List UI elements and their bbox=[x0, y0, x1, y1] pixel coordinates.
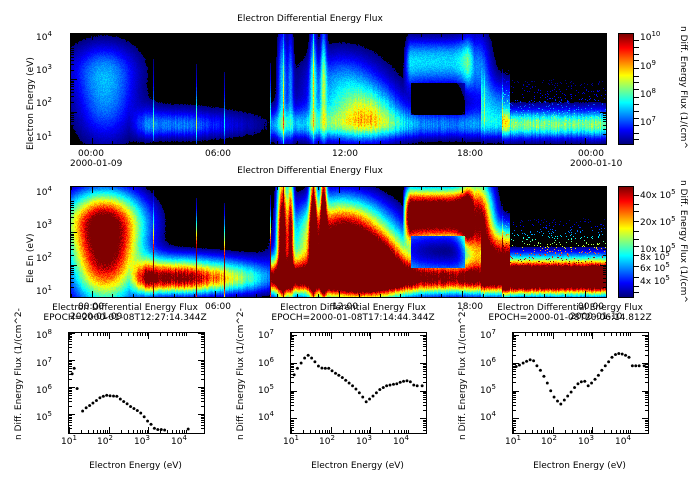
spectrum-1-ytick-5: 105 bbox=[36, 413, 52, 423]
axis-tick bbox=[603, 54, 606, 55]
axis-tick bbox=[71, 34, 72, 37]
axis-tick bbox=[153, 187, 154, 190]
axis-tick bbox=[71, 234, 74, 235]
spectrum-1-ytick-7: 107 bbox=[36, 359, 52, 369]
colorbar-tick bbox=[633, 231, 639, 232]
axis-tick bbox=[544, 187, 545, 190]
axis-tick bbox=[297, 187, 298, 190]
colorbar-tick bbox=[633, 89, 639, 90]
axis-tick bbox=[603, 249, 606, 250]
axis-tick bbox=[585, 187, 586, 193]
colorbar-tick bbox=[633, 255, 639, 256]
axis-tick bbox=[503, 294, 504, 297]
spectrum-1-title: Electron Differential Energy Flux bbox=[20, 303, 230, 313]
axis-tick bbox=[603, 274, 606, 275]
axis-tick bbox=[603, 242, 606, 243]
axis-tick bbox=[380, 294, 381, 297]
spectrum-3-ylabel: n Diff. Energy Flux (1/(cm^2- bbox=[458, 308, 468, 440]
spectrum-2-xtick-2: 102 bbox=[319, 437, 335, 447]
axis-tick bbox=[71, 187, 72, 190]
axis-tick bbox=[71, 282, 74, 283]
spectrum-1-xtick-2: 102 bbox=[97, 437, 113, 447]
axis-tick bbox=[603, 201, 606, 202]
spectrum-1-xtick-3: 103 bbox=[134, 437, 150, 447]
axis-tick bbox=[603, 287, 606, 288]
bottom-cbtick-6: 6x 105 bbox=[640, 264, 670, 274]
spectrum-2-xtick-4: 104 bbox=[393, 437, 409, 447]
axis-tick bbox=[524, 187, 525, 190]
axis-tick bbox=[318, 294, 319, 297]
axis-tick bbox=[277, 34, 278, 37]
axis-tick bbox=[236, 34, 237, 37]
colorbar-tick bbox=[633, 221, 639, 222]
axis-tick bbox=[400, 187, 401, 190]
spectrum-3-epoch: EPOCH=2000-01-08T20:06:14.812Z bbox=[460, 313, 680, 323]
axis-tick bbox=[277, 294, 278, 297]
axis-tick bbox=[71, 242, 74, 243]
spectrum-3-xtick-4: 104 bbox=[615, 437, 631, 447]
axis-tick bbox=[483, 294, 484, 297]
axis-tick bbox=[133, 141, 134, 144]
top-xtick-1: 06:00 bbox=[205, 149, 231, 159]
axis-tick bbox=[215, 34, 216, 40]
spectrum-2-title: Electron Differential Energy Flux bbox=[248, 303, 458, 313]
axis-tick bbox=[256, 141, 257, 144]
spectrum-2-xlabel: Electron Energy (eV) bbox=[290, 461, 425, 471]
axis-tick bbox=[359, 34, 360, 37]
top-ytick-4: 104 bbox=[36, 33, 52, 43]
spectrum-3-title: Electron Differential Energy Flux bbox=[460, 303, 680, 313]
colorbar-tick bbox=[633, 292, 639, 293]
top-ytick-2: 102 bbox=[36, 99, 52, 109]
colorbar-tick bbox=[633, 266, 639, 267]
axis-tick bbox=[400, 141, 401, 144]
spectrum-3-xtick-1: 101 bbox=[505, 437, 521, 447]
axis-tick bbox=[359, 141, 360, 144]
axis-tick bbox=[71, 129, 74, 130]
bottom-cbtick-4: 4x 105 bbox=[640, 277, 670, 287]
axis-tick bbox=[71, 245, 74, 246]
axis-tick bbox=[603, 266, 606, 267]
colorbar-tick bbox=[633, 239, 639, 240]
axis-tick bbox=[71, 57, 74, 58]
axis-tick bbox=[603, 203, 606, 204]
axis-tick bbox=[92, 138, 93, 144]
axis-tick bbox=[71, 81, 74, 82]
axis-tick bbox=[441, 187, 442, 190]
axis-tick bbox=[441, 34, 442, 37]
axis-tick bbox=[112, 294, 113, 297]
axis-tick bbox=[71, 125, 74, 126]
axis-tick bbox=[256, 34, 257, 37]
axis-tick bbox=[603, 81, 606, 82]
axis-tick bbox=[421, 187, 422, 190]
axis-tick bbox=[174, 141, 175, 144]
spectrum-3-ytick-4: 104 bbox=[480, 413, 496, 423]
spectrum-1-xlabel: Electron Energy (eV) bbox=[68, 461, 203, 471]
axis-tick bbox=[603, 270, 606, 271]
axis-tick bbox=[380, 141, 381, 144]
axis-tick bbox=[483, 34, 484, 37]
axis-tick bbox=[318, 187, 319, 190]
axis-tick bbox=[606, 187, 607, 190]
axis-tick bbox=[603, 210, 606, 211]
axis-tick bbox=[603, 272, 606, 273]
bottom-colorbar bbox=[618, 186, 634, 298]
axis-tick bbox=[524, 141, 525, 144]
axis-tick bbox=[524, 34, 525, 37]
axis-tick bbox=[600, 79, 606, 80]
axis-tick bbox=[565, 141, 566, 144]
spectrum-3-plot-area bbox=[512, 332, 649, 434]
axis-tick bbox=[215, 138, 216, 144]
axis-tick bbox=[603, 217, 606, 218]
top-xtick-0: 00:00 bbox=[78, 149, 104, 159]
spectrum-1-xtick-1: 101 bbox=[61, 437, 77, 447]
colorbar-tick bbox=[633, 133, 639, 134]
bottom-ytick-4: 104 bbox=[36, 188, 52, 198]
axis-tick bbox=[236, 294, 237, 297]
spectrum-2-ylabel: n Diff. Energy Flux (1/(cm^2- bbox=[236, 308, 246, 440]
axis-tick bbox=[71, 117, 74, 118]
axis-tick bbox=[71, 82, 74, 83]
axis-tick bbox=[603, 121, 606, 122]
axis-tick bbox=[71, 239, 74, 240]
axis-tick bbox=[71, 92, 74, 93]
axis-tick bbox=[503, 187, 504, 190]
axis-tick bbox=[380, 187, 381, 190]
axis-tick bbox=[565, 34, 566, 37]
top-cbtick-8: 108 bbox=[640, 90, 656, 100]
bottom-colorbar-label: n Diff. Energy Flux (1/(cm^ bbox=[678, 180, 688, 303]
axis-tick bbox=[71, 70, 74, 71]
axis-tick bbox=[600, 144, 606, 145]
spectrum-2-xtick-3: 103 bbox=[356, 437, 372, 447]
colorbar-tick bbox=[633, 40, 639, 41]
bottom-cbtick-40: 40x 105 bbox=[640, 191, 676, 201]
axis-tick bbox=[603, 57, 606, 58]
axis-tick bbox=[603, 102, 606, 103]
axis-tick bbox=[603, 134, 606, 135]
axis-tick bbox=[71, 265, 77, 266]
axis-tick bbox=[153, 294, 154, 297]
colorbar-tick bbox=[633, 97, 639, 98]
bottom-ytick-2: 102 bbox=[36, 254, 52, 264]
axis-tick bbox=[421, 294, 422, 297]
axis-tick bbox=[112, 141, 113, 144]
spectrum-1-ytick-6: 106 bbox=[36, 386, 52, 396]
axis-tick bbox=[603, 223, 606, 224]
axis-tick bbox=[441, 294, 442, 297]
top-panel-title: Electron Differential Energy Flux bbox=[0, 14, 620, 24]
colorbar-tick bbox=[633, 204, 639, 205]
axis-tick bbox=[194, 187, 195, 190]
spectrum-3-xtick-3: 103 bbox=[578, 437, 594, 447]
axis-tick bbox=[71, 79, 77, 80]
axis-tick bbox=[503, 141, 504, 144]
axis-tick bbox=[603, 255, 606, 256]
colorbar-tick bbox=[633, 111, 639, 112]
axis-tick bbox=[71, 278, 74, 279]
axis-tick bbox=[71, 274, 74, 275]
axis-tick bbox=[153, 141, 154, 144]
colorbar-tick bbox=[633, 195, 639, 196]
axis-tick bbox=[603, 84, 606, 85]
axis-tick bbox=[71, 52, 74, 53]
axis-tick bbox=[603, 92, 606, 93]
axis-tick bbox=[603, 282, 606, 283]
axis-tick bbox=[71, 217, 74, 218]
axis-tick bbox=[71, 210, 74, 211]
axis-tick bbox=[71, 144, 77, 145]
top-ytick-1: 101 bbox=[36, 133, 52, 143]
axis-tick bbox=[92, 34, 93, 40]
axis-tick bbox=[71, 223, 74, 224]
axis-tick bbox=[606, 34, 607, 37]
top-xtick-3: 18:00 bbox=[457, 149, 483, 159]
spectrum-2-ytick-7: 107 bbox=[258, 331, 274, 341]
axis-tick bbox=[462, 34, 463, 40]
spectrum-1-xtick-4: 104 bbox=[171, 437, 187, 447]
axis-tick bbox=[600, 232, 606, 233]
axis-tick bbox=[318, 34, 319, 37]
axis-tick bbox=[71, 203, 74, 204]
axis-tick bbox=[339, 291, 340, 297]
axis-tick bbox=[92, 187, 93, 193]
axis-tick bbox=[603, 48, 606, 49]
axis-tick bbox=[603, 235, 606, 236]
axis-tick bbox=[71, 249, 74, 250]
axis-tick bbox=[133, 187, 134, 190]
colorbar-tick bbox=[633, 118, 639, 119]
axis-tick bbox=[603, 70, 606, 71]
axis-tick bbox=[544, 34, 545, 37]
axis-tick bbox=[483, 141, 484, 144]
colorbar-tick bbox=[633, 277, 639, 278]
axis-tick bbox=[603, 207, 606, 208]
spectrum-1-epoch: EPOCH=2000-01-08T12:27:14.344Z bbox=[20, 313, 230, 323]
axis-tick bbox=[71, 205, 74, 206]
colorbar-tick bbox=[633, 60, 639, 61]
colorbar-tick bbox=[633, 47, 639, 48]
axis-tick bbox=[71, 141, 72, 144]
spectrum-2-epoch: EPOCH=2000-01-08T17:14:44.344Z bbox=[248, 313, 458, 323]
axis-tick bbox=[462, 291, 463, 297]
axis-tick bbox=[71, 272, 74, 273]
colorbar-tick bbox=[633, 139, 639, 140]
axis-tick bbox=[71, 266, 74, 267]
axis-tick bbox=[359, 294, 360, 297]
axis-tick bbox=[400, 34, 401, 37]
axis-tick bbox=[483, 187, 484, 190]
axis-tick bbox=[524, 294, 525, 297]
axis-tick bbox=[71, 96, 74, 97]
axis-tick bbox=[112, 187, 113, 190]
axis-tick bbox=[174, 187, 175, 190]
axis-tick bbox=[174, 294, 175, 297]
axis-tick bbox=[277, 187, 278, 190]
axis-tick bbox=[71, 50, 74, 51]
axis-tick bbox=[603, 125, 606, 126]
axis-tick bbox=[71, 237, 74, 238]
axis-tick bbox=[71, 134, 74, 135]
axis-tick bbox=[421, 141, 422, 144]
axis-tick bbox=[71, 207, 74, 208]
spectrum-3-xlabel: Electron Energy (eV) bbox=[512, 461, 647, 471]
axis-tick bbox=[462, 187, 463, 193]
axis-tick bbox=[565, 294, 566, 297]
axis-tick bbox=[603, 96, 606, 97]
axis-tick bbox=[133, 34, 134, 37]
colorbar-tick bbox=[633, 76, 639, 77]
bottom-ytick-3: 103 bbox=[36, 221, 52, 231]
top-xtick-2: 12:00 bbox=[332, 149, 358, 159]
spectrum-1-ylabel: n Diff. Energy Flux (1/(cm^2- bbox=[14, 308, 24, 440]
axis-tick bbox=[236, 141, 237, 144]
axis-tick bbox=[71, 232, 77, 233]
axis-tick bbox=[133, 294, 134, 297]
axis-tick bbox=[603, 89, 606, 90]
spectrum-3-ytick-7: 107 bbox=[480, 331, 496, 341]
axis-tick bbox=[400, 294, 401, 297]
top-cbtick-7: 107 bbox=[640, 118, 656, 128]
axis-tick bbox=[603, 86, 606, 87]
colorbar-tick bbox=[633, 82, 639, 83]
spectrum-3-xtick-2: 102 bbox=[541, 437, 557, 447]
axis-tick bbox=[297, 34, 298, 37]
colorbar-tick bbox=[633, 211, 639, 212]
axis-tick bbox=[585, 34, 586, 40]
axis-tick bbox=[603, 129, 606, 130]
axis-tick bbox=[421, 34, 422, 37]
axis-tick bbox=[71, 297, 77, 298]
axis-tick bbox=[174, 34, 175, 37]
axis-tick bbox=[71, 89, 74, 90]
axis-tick bbox=[71, 121, 74, 122]
spectrum-2-ytick-4: 104 bbox=[258, 413, 274, 423]
top-cbtick-10: 1010 bbox=[640, 33, 660, 43]
axis-tick bbox=[603, 239, 606, 240]
axis-tick bbox=[256, 187, 257, 190]
axis-tick bbox=[503, 34, 504, 37]
axis-tick bbox=[71, 268, 74, 269]
spectrum-1-ytick-8: 108 bbox=[36, 331, 52, 341]
axis-tick bbox=[71, 54, 74, 55]
axis-tick bbox=[71, 64, 74, 65]
spectrum-3-ytick-5: 105 bbox=[480, 386, 496, 396]
axis-tick bbox=[71, 270, 74, 271]
axis-tick bbox=[603, 245, 606, 246]
axis-tick bbox=[71, 201, 74, 202]
axis-tick bbox=[603, 60, 606, 61]
colorbar-tick bbox=[633, 104, 639, 105]
spectrum-1-plot-area bbox=[68, 332, 205, 434]
axis-tick bbox=[71, 102, 74, 103]
axis-tick bbox=[380, 34, 381, 37]
axis-tick bbox=[339, 34, 340, 40]
spectrum-2-xtick-1: 101 bbox=[283, 437, 299, 447]
axis-tick bbox=[600, 265, 606, 266]
spectrum-3-ytick-6: 106 bbox=[480, 359, 496, 369]
axis-tick bbox=[585, 291, 586, 297]
axis-tick bbox=[71, 287, 74, 288]
axis-tick bbox=[606, 141, 607, 144]
axis-tick bbox=[194, 294, 195, 297]
axis-tick bbox=[92, 291, 93, 297]
top-xtick-4: 00:00 bbox=[578, 149, 604, 159]
axis-tick bbox=[565, 187, 566, 190]
axis-tick bbox=[585, 138, 586, 144]
axis-tick bbox=[603, 205, 606, 206]
axis-tick bbox=[194, 34, 195, 37]
axis-tick bbox=[71, 84, 74, 85]
bottom-cbtick-20: 20x 105 bbox=[640, 218, 676, 228]
axis-tick bbox=[318, 141, 319, 144]
axis-tick bbox=[359, 187, 360, 190]
axis-tick bbox=[603, 213, 606, 214]
axis-tick bbox=[297, 141, 298, 144]
bottom-ytick-1: 101 bbox=[36, 287, 52, 297]
axis-tick bbox=[603, 278, 606, 279]
top-spectrogram-plot-area bbox=[70, 33, 607, 145]
axis-tick bbox=[71, 48, 74, 49]
top-colorbar bbox=[618, 33, 634, 145]
spectrum-2-ytick-5: 105 bbox=[258, 386, 274, 396]
axis-tick bbox=[194, 141, 195, 144]
top-colorbar-label: n Diff. Energy Flux (1/(cm^ bbox=[678, 26, 688, 149]
axis-tick bbox=[71, 86, 74, 87]
axis-tick bbox=[71, 115, 74, 116]
bottom-panel-title: Electron Differential Energy Flux bbox=[0, 166, 620, 176]
axis-tick bbox=[339, 187, 340, 193]
axis-tick bbox=[112, 34, 113, 37]
colorbar-tick bbox=[633, 54, 639, 55]
colorbar-tick bbox=[633, 246, 639, 247]
axis-tick bbox=[339, 138, 340, 144]
axis-tick bbox=[603, 117, 606, 118]
bottom-panel-ylabel: Ele En (eV) bbox=[26, 233, 36, 283]
axis-tick bbox=[544, 141, 545, 144]
axis-tick bbox=[603, 64, 606, 65]
top-ytick-3: 103 bbox=[36, 66, 52, 76]
axis-tick bbox=[600, 297, 606, 298]
colorbar-tick bbox=[633, 286, 639, 287]
axis-tick bbox=[215, 291, 216, 297]
axis-tick bbox=[462, 138, 463, 144]
axis-tick bbox=[603, 82, 606, 83]
axis-tick bbox=[603, 113, 606, 114]
axis-tick bbox=[603, 52, 606, 53]
axis-tick bbox=[606, 294, 607, 297]
axis-tick bbox=[71, 119, 74, 120]
axis-tick bbox=[71, 112, 77, 113]
top-panel-ylabel: Electron Energy (eV) bbox=[26, 57, 36, 150]
axis-tick bbox=[71, 60, 74, 61]
axis-tick bbox=[71, 294, 72, 297]
top-cbtick-9: 109 bbox=[640, 62, 656, 72]
axis-tick bbox=[603, 268, 606, 269]
axis-tick bbox=[71, 255, 74, 256]
axis-tick bbox=[603, 115, 606, 116]
bottom-spectrogram-plot-area bbox=[70, 186, 607, 298]
axis-tick bbox=[71, 235, 74, 236]
colorbar-tick bbox=[633, 68, 639, 69]
axis-tick bbox=[603, 50, 606, 51]
spectrum-2-ytick-6: 106 bbox=[258, 359, 274, 369]
axis-tick bbox=[603, 119, 606, 120]
axis-tick bbox=[603, 237, 606, 238]
axis-tick bbox=[297, 294, 298, 297]
